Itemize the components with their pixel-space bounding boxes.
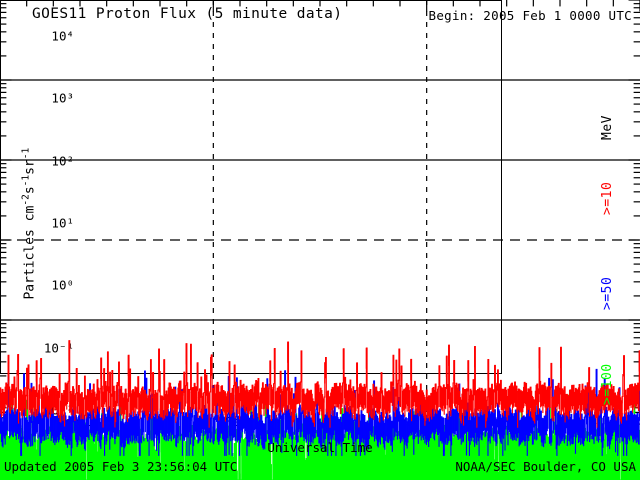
x-axis-title: Universal Time [0, 440, 640, 455]
legend-label: >=100 [600, 363, 615, 405]
chart-plot-area [0, 0, 502, 374]
chart-data-traces [0, 0, 502, 374]
legend-label: >=50 [600, 277, 615, 310]
legend-label: MeV [600, 115, 615, 140]
legend-label: >=10 [600, 182, 615, 215]
updated-timestamp: Updated 2005 Feb 3 23:56:04 UTC [4, 459, 237, 474]
source-attribution: NOAA/SEC Boulder, CO USA [455, 459, 636, 474]
